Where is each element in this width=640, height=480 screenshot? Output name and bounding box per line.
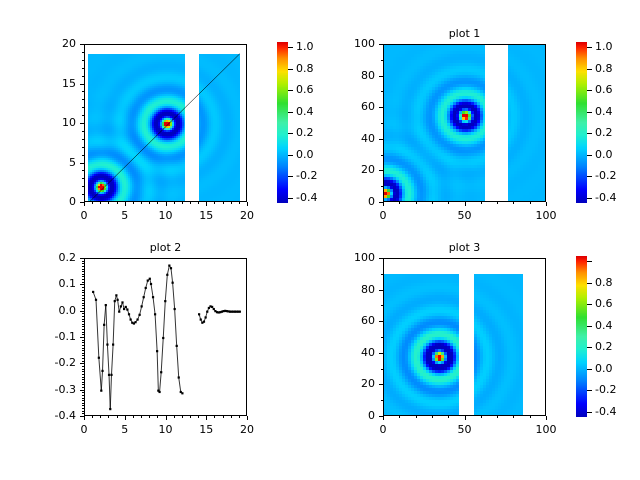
x-tick-minor [497, 416, 498, 418]
colorbar-tick [288, 155, 293, 156]
x-tick-minor [182, 416, 183, 418]
y-tick-label: 100 [299, 38, 375, 49]
y-tick-minor [82, 292, 84, 293]
y-tick-minor [82, 355, 84, 356]
colorbar-tick [587, 412, 592, 413]
y-tick-label: -0.3 [0, 384, 76, 395]
x-tick-minor [214, 202, 215, 204]
y-tick-label: 60 [299, 315, 375, 326]
y-tick-minor [82, 290, 84, 291]
colorbar-tick-label: 0.4 [595, 106, 613, 117]
y-tick-minor [82, 261, 84, 262]
x-tick-major [546, 416, 547, 420]
y-tick-major [379, 107, 383, 108]
y-tick-minor [82, 358, 84, 359]
colorbar-top-right [576, 42, 587, 203]
colorbar-tick-label: -0.4 [595, 406, 616, 417]
y-tick-minor [82, 369, 84, 370]
x-tick-minor [416, 416, 417, 418]
y-tick-minor [82, 329, 84, 330]
colorbar-tick [288, 176, 293, 177]
y-tick-major [80, 337, 84, 338]
x-tick-minor [530, 202, 531, 204]
y-tick-major [80, 284, 84, 285]
y-tick-minor [82, 279, 84, 280]
x-tick-major [546, 202, 547, 206]
x-tick-label: 20 [217, 424, 277, 435]
y-tick-minor [82, 295, 84, 296]
y-tick-minor [82, 361, 84, 362]
y-tick-minor [82, 342, 84, 343]
x-tick-minor [481, 202, 482, 204]
y-tick-minor [82, 287, 84, 288]
x-tick-major [247, 416, 248, 420]
y-tick-minor [82, 366, 84, 367]
y-tick-minor [381, 305, 383, 306]
x-tick-minor [214, 416, 215, 418]
x-tick-minor [100, 202, 101, 204]
y-tick-major [379, 353, 383, 354]
y-tick-minor [82, 379, 84, 380]
y-tick-label: 0 [299, 410, 375, 421]
plot-title: plot 3 [343, 241, 586, 254]
colorbar-tick [587, 326, 592, 327]
y-tick-minor [82, 321, 84, 322]
y-tick-major [379, 44, 383, 45]
x-tick-minor [133, 416, 134, 418]
colorbar-top-left [277, 42, 288, 203]
heatmap-image [384, 259, 546, 416]
y-tick-minor [82, 392, 84, 393]
x-tick-minor [448, 202, 449, 204]
x-tick-minor [92, 416, 93, 418]
x-tick-label: 0 [353, 210, 413, 221]
x-tick-label: 0 [353, 424, 413, 435]
y-tick-minor [82, 282, 84, 283]
colorbar-tick [587, 390, 592, 391]
x-tick-minor [432, 202, 433, 204]
y-tick-minor [82, 403, 84, 404]
plot-area-bottom-right [383, 258, 546, 416]
x-tick-major [84, 416, 85, 420]
y-tick-minor [82, 377, 84, 378]
x-tick-minor [157, 202, 158, 204]
y-tick-minor [82, 139, 84, 140]
plot-area-bottom-left [84, 258, 247, 416]
colorbar-tick [587, 69, 592, 70]
colorbar-gradient [277, 42, 288, 203]
x-tick-major [383, 416, 384, 420]
x-tick-minor [239, 202, 240, 204]
colorbar-tick-label: -0.4 [595, 192, 616, 203]
y-tick-minor [82, 345, 84, 346]
y-tick-minor [82, 91, 84, 92]
y-tick-minor [82, 313, 84, 314]
y-tick-minor [82, 76, 84, 77]
y-tick-minor [82, 316, 84, 317]
x-tick-minor [513, 416, 514, 418]
x-tick-minor [231, 202, 232, 204]
y-tick-minor [82, 303, 84, 304]
y-tick-major [379, 321, 383, 322]
y-tick-minor [82, 384, 84, 385]
y-tick-minor [82, 276, 84, 277]
y-tick-major [80, 311, 84, 312]
y-tick-minor [82, 263, 84, 264]
x-tick-label: 50 [435, 424, 495, 435]
y-tick-minor [82, 147, 84, 148]
x-tick-minor [100, 416, 101, 418]
y-tick-minor [82, 326, 84, 327]
colorbar-tick-label: 0.6 [296, 84, 314, 95]
y-tick-minor [82, 334, 84, 335]
y-tick-minor [82, 170, 84, 171]
x-tick-minor [530, 416, 531, 418]
x-tick-label: 50 [435, 210, 495, 221]
x-tick-major [247, 202, 248, 206]
x-tick-minor [108, 416, 109, 418]
y-tick-minor [82, 186, 84, 187]
y-tick-label: 10 [0, 117, 76, 128]
y-tick-minor [381, 274, 383, 275]
y-tick-major [379, 258, 383, 259]
x-tick-minor [223, 202, 224, 204]
x-tick-minor [108, 202, 109, 204]
colorbar-tick-label: 0.6 [595, 84, 613, 95]
x-tick-minor [231, 416, 232, 418]
y-tick-minor [82, 371, 84, 372]
x-tick-major [125, 202, 126, 206]
y-tick-minor [82, 400, 84, 401]
y-tick-label: 0.2 [0, 252, 76, 263]
y-tick-label: 100 [299, 252, 375, 263]
y-tick-minor [82, 178, 84, 179]
x-tick-label: 20 [217, 210, 277, 221]
y-tick-minor [82, 408, 84, 409]
y-tick-label: 20 [0, 38, 76, 49]
y-tick-minor [381, 155, 383, 156]
x-tick-major [125, 416, 126, 420]
x-tick-minor [182, 202, 183, 204]
y-tick-major [80, 258, 84, 259]
y-tick-minor [82, 374, 84, 375]
x-tick-minor [481, 416, 482, 418]
y-tick-minor [82, 298, 84, 299]
y-tick-label: 80 [299, 70, 375, 81]
y-tick-label: 40 [299, 347, 375, 358]
y-tick-label: 40 [299, 133, 375, 144]
y-tick-major [379, 384, 383, 385]
y-tick-major [80, 363, 84, 364]
colorbar-tick [587, 90, 592, 91]
x-tick-minor [141, 202, 142, 204]
colorbar-tick [288, 47, 293, 48]
line-series-canvas [85, 259, 247, 416]
y-tick-major [80, 390, 84, 391]
y-tick-minor [82, 115, 84, 116]
colorbar-tick-label: -0.2 [595, 384, 616, 395]
y-tick-label: 60 [299, 101, 375, 112]
y-tick-minor [82, 60, 84, 61]
colorbar-tick [587, 304, 592, 305]
y-tick-minor [381, 400, 383, 401]
y-tick-minor [82, 413, 84, 414]
x-tick-minor [190, 202, 191, 204]
x-tick-minor [432, 416, 433, 418]
y-tick-minor [82, 155, 84, 156]
y-tick-label: 80 [299, 284, 375, 295]
x-tick-minor [141, 416, 142, 418]
plot-area-top-left [84, 44, 247, 202]
colorbar-gradient [576, 42, 587, 203]
y-tick-label: -0.2 [0, 357, 76, 368]
x-tick-major [383, 202, 384, 206]
y-tick-minor [381, 369, 383, 370]
y-tick-minor [82, 350, 84, 351]
plot-area-top-right [383, 44, 546, 202]
colorbar-tick [587, 155, 592, 156]
x-tick-major [166, 416, 167, 420]
colorbar-tick-label: 1.0 [595, 41, 613, 52]
y-tick-minor [381, 123, 383, 124]
x-tick-minor [149, 416, 150, 418]
x-tick-minor [149, 202, 150, 204]
x-tick-minor [174, 416, 175, 418]
x-tick-major [206, 202, 207, 206]
y-tick-minor [82, 411, 84, 412]
x-tick-minor [399, 416, 400, 418]
heatmap-image [384, 45, 546, 202]
colorbar-tick [288, 90, 293, 91]
y-tick-minor [82, 387, 84, 388]
colorbar-tick [587, 261, 592, 262]
x-tick-minor [223, 416, 224, 418]
y-tick-minor [381, 337, 383, 338]
colorbar-tick [288, 133, 293, 134]
y-tick-major [80, 123, 84, 124]
colorbar-tick-label: 0.2 [595, 341, 613, 352]
x-tick-minor [448, 416, 449, 418]
y-tick-label: 5 [0, 157, 76, 168]
y-tick-minor [82, 300, 84, 301]
y-tick-minor [82, 107, 84, 108]
y-tick-major [80, 84, 84, 85]
x-tick-major [465, 416, 466, 420]
x-tick-minor [190, 416, 191, 418]
colorbar-tick [288, 112, 293, 113]
y-tick-minor [82, 52, 84, 53]
x-tick-major [206, 416, 207, 420]
colorbar-tick [587, 176, 592, 177]
y-tick-minor [82, 194, 84, 195]
y-tick-minor [82, 68, 84, 69]
figure-canvas: 0510152005101520-0.4-0.20.00.20.40.60.81… [0, 0, 640, 480]
x-tick-label: 100 [516, 210, 576, 221]
colorbar-tick [587, 347, 592, 348]
colorbar-bottom-right [576, 256, 587, 417]
x-tick-major [166, 202, 167, 206]
y-tick-minor [82, 395, 84, 396]
y-tick-minor [82, 324, 84, 325]
y-tick-label: 15 [0, 78, 76, 89]
heatmap-image [85, 45, 247, 202]
y-tick-minor [82, 332, 84, 333]
y-tick-minor [82, 340, 84, 341]
y-tick-minor [82, 319, 84, 320]
y-tick-minor [82, 308, 84, 309]
colorbar-tick-label: 0.0 [296, 149, 314, 160]
y-tick-minor [381, 60, 383, 61]
x-tick-minor [497, 202, 498, 204]
y-tick-label: 20 [299, 378, 375, 389]
x-tick-minor [92, 202, 93, 204]
y-tick-minor [82, 348, 84, 349]
colorbar-tick [587, 47, 592, 48]
y-tick-major [379, 290, 383, 291]
colorbar-gradient [576, 256, 587, 417]
y-tick-minor [82, 274, 84, 275]
y-tick-minor [82, 269, 84, 270]
colorbar-tick-label: 0.0 [595, 363, 613, 374]
colorbar-tick-label: 0.0 [595, 149, 613, 160]
x-tick-major [465, 202, 466, 206]
y-tick-minor [82, 353, 84, 354]
y-tick-minor [82, 398, 84, 399]
x-tick-minor [198, 202, 199, 204]
y-tick-minor [82, 405, 84, 406]
y-tick-minor [381, 186, 383, 187]
y-tick-label: -0.4 [0, 410, 76, 421]
x-tick-minor [239, 416, 240, 418]
x-tick-minor [399, 202, 400, 204]
colorbar-tick [587, 133, 592, 134]
y-tick-minor [82, 271, 84, 272]
y-tick-major [80, 44, 84, 45]
colorbar-tick-label: 0.6 [595, 298, 613, 309]
y-tick-minor [82, 131, 84, 132]
colorbar-tick-label: 0.4 [595, 320, 613, 331]
x-tick-minor [133, 202, 134, 204]
x-tick-minor [117, 202, 118, 204]
colorbar-tick [587, 112, 592, 113]
y-tick-minor [381, 91, 383, 92]
y-tick-label: 0.0 [0, 305, 76, 316]
colorbar-tick-label: 0.2 [595, 127, 613, 138]
x-tick-minor [416, 202, 417, 204]
y-tick-label: -0.1 [0, 331, 76, 342]
y-tick-major [379, 139, 383, 140]
colorbar-tick [288, 69, 293, 70]
y-tick-major [80, 163, 84, 164]
y-tick-label: 0 [299, 196, 375, 207]
x-tick-major [84, 202, 85, 206]
x-tick-minor [117, 416, 118, 418]
colorbar-tick-label: 0.8 [595, 277, 613, 288]
y-tick-minor [82, 382, 84, 383]
x-tick-minor [157, 416, 158, 418]
colorbar-tick [288, 198, 293, 199]
colorbar-tick-label: 0.8 [595, 63, 613, 74]
y-tick-minor [82, 266, 84, 267]
x-tick-minor [198, 416, 199, 418]
y-tick-major [379, 170, 383, 171]
y-tick-minor [82, 99, 84, 100]
y-tick-label: 0 [0, 196, 76, 207]
x-tick-minor [174, 202, 175, 204]
y-tick-minor [82, 305, 84, 306]
y-tick-major [379, 76, 383, 77]
x-tick-label: 100 [516, 424, 576, 435]
colorbar-tick [587, 283, 592, 284]
colorbar-tick [587, 369, 592, 370]
colorbar-tick-label: -0.2 [595, 170, 616, 181]
colorbar-tick [587, 198, 592, 199]
plot-title: plot 2 [44, 241, 287, 254]
y-tick-label: 20 [299, 164, 375, 175]
y-tick-label: 0.1 [0, 278, 76, 289]
plot-title: plot 1 [343, 27, 586, 40]
x-tick-minor [513, 202, 514, 204]
